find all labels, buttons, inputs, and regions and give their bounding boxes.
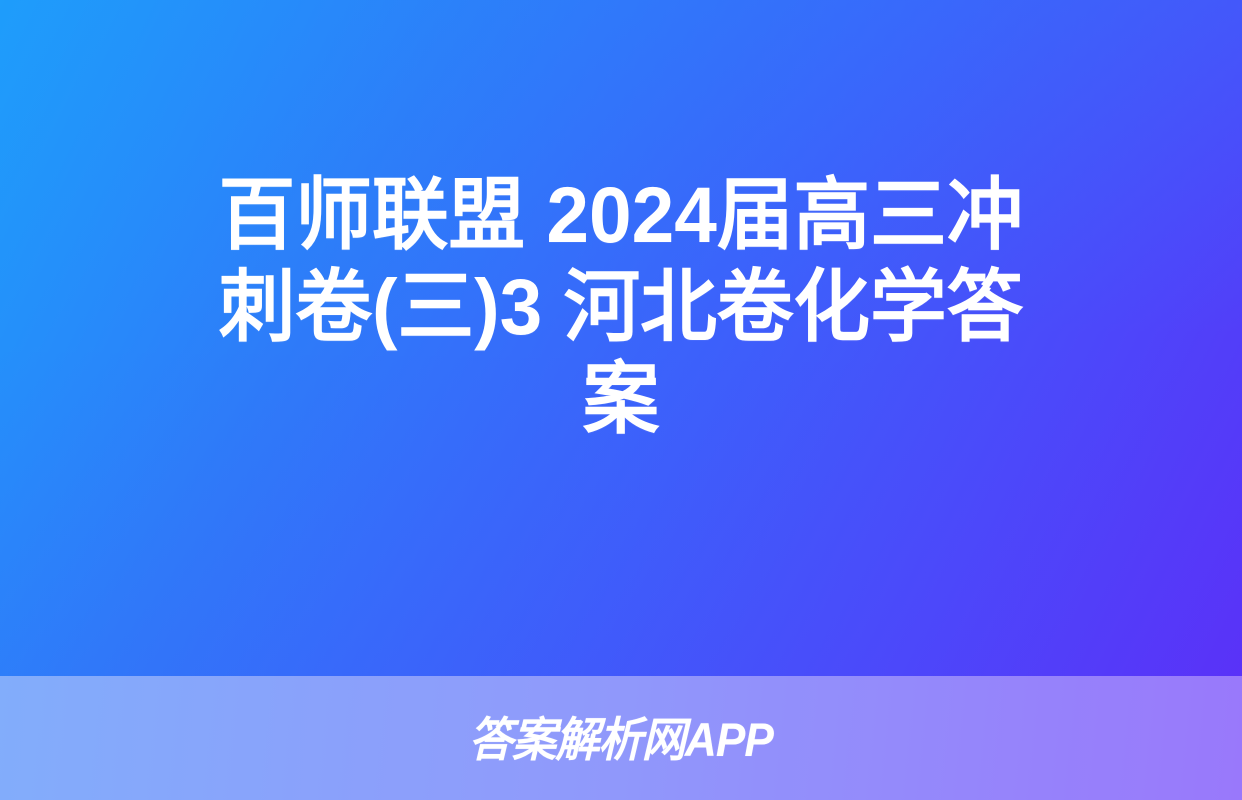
page-title-line-2: 刺卷(三)3 河北卷化学答 (87, 268, 1156, 346)
page-title: 百师联盟 2024届高三冲 刺卷(三)3 河北卷化学答 案 (87, 176, 1156, 438)
page-title-line-1: 百师联盟 2024届高三冲 (87, 176, 1156, 254)
answer-cover-card: 百师联盟 2024届高三冲 刺卷(三)3 河北卷化学答 案 答案解析网APP (0, 0, 1242, 800)
footer-watermark-band: 答案解析网APP (0, 676, 1242, 800)
app-watermark-label: 答案解析网APP (469, 716, 773, 763)
page-title-line-3: 案 (87, 360, 1156, 438)
